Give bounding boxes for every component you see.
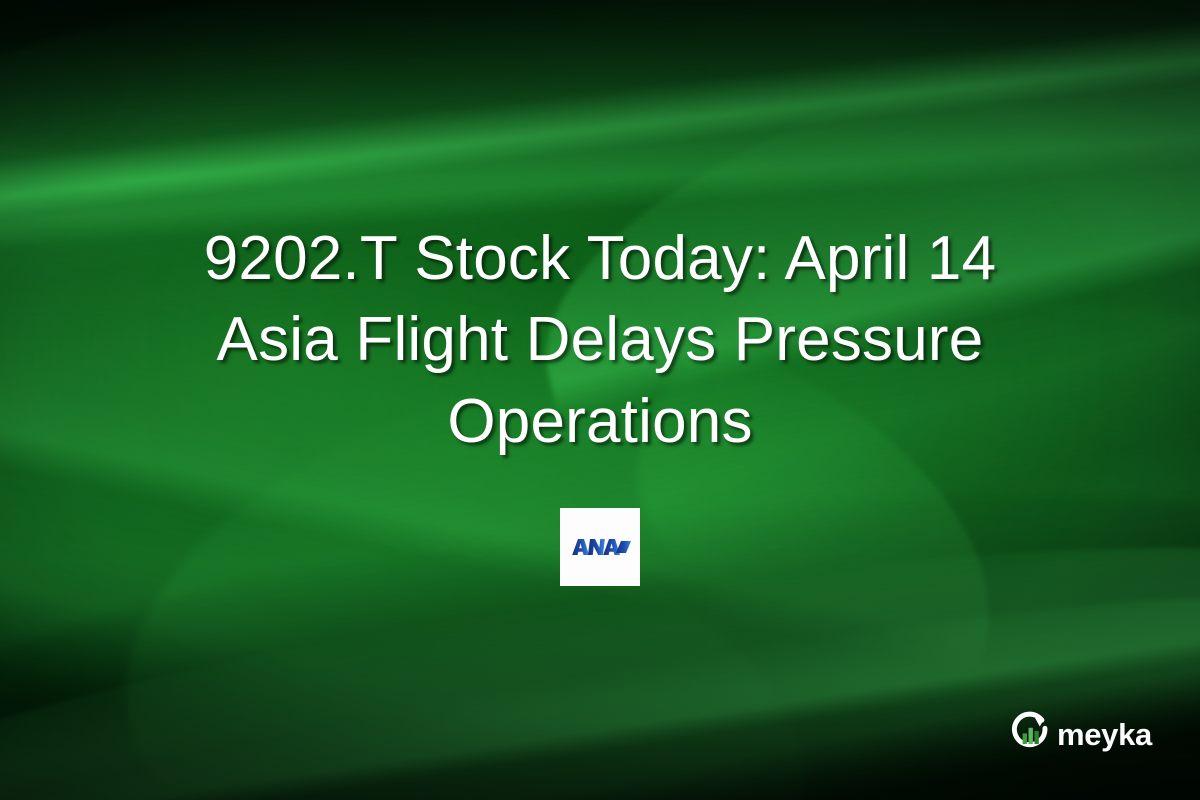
company-logo-tile [560,508,640,586]
share-card: 9202.T Stock Today: April 14 Asia Flight… [0,0,1200,800]
ana-airline-logo-icon [569,536,631,558]
page-title: 9202.T Stock Today: April 14 Asia Flight… [60,218,1140,463]
meyka-wordmark: meyka [1057,719,1152,750]
meyka-circle-bar-chart-icon [1010,711,1052,758]
card-content: 9202.T Stock Today: April 14 Asia Flight… [0,0,1200,800]
meyka-watermark: meyka [1010,711,1152,758]
